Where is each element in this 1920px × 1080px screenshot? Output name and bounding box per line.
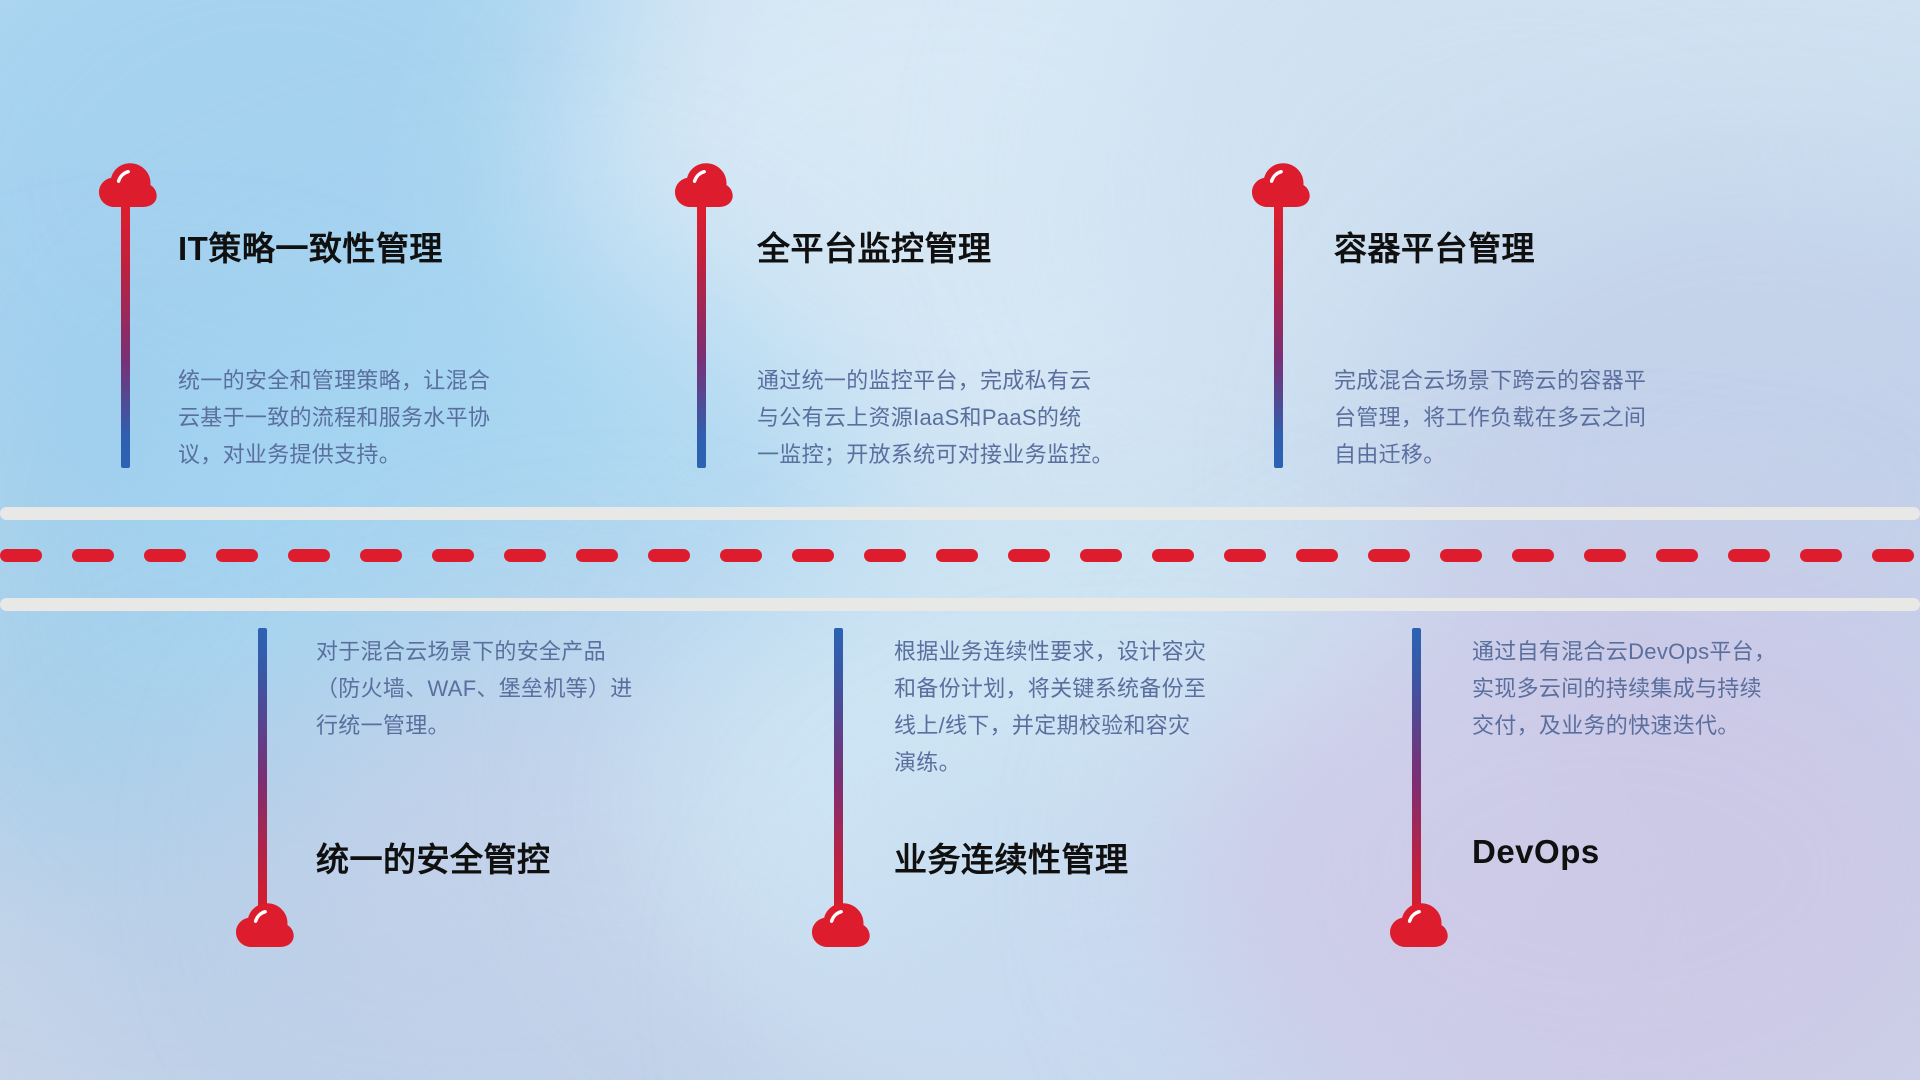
connector-stem — [834, 628, 843, 918]
road-dash — [144, 549, 186, 562]
card-heading: IT策略一致性管理 — [178, 222, 443, 270]
card-body: 通过统一的监控平台，完成私有云 与公有云上资源IaaS和PaaS的统 一监控；开… — [757, 362, 1197, 473]
road-dash — [288, 549, 330, 562]
road-dash — [720, 549, 762, 562]
connector-stem — [121, 203, 130, 468]
cloud-icon — [1385, 900, 1449, 948]
body-line: 议，对业务提供支持。 — [178, 436, 608, 473]
cloud-icon — [670, 160, 734, 208]
body-line: 对于混合云场景下的安全产品 — [316, 633, 746, 670]
road-dash — [576, 549, 618, 562]
road-dash — [1584, 549, 1626, 562]
road-dash — [1512, 549, 1554, 562]
body-line: 线上/线下，并定期校验和容灾 — [894, 707, 1324, 744]
road-dash — [0, 549, 42, 562]
body-line: 通过自有混合云DevOps平台， — [1472, 633, 1892, 670]
cloud-icon — [1247, 160, 1311, 208]
road-edge-top — [0, 507, 1920, 520]
road-dash — [360, 549, 402, 562]
road-dash-row — [0, 549, 1920, 562]
road-dash — [504, 549, 546, 562]
body-line: 实现多云间的持续集成与持续 — [1472, 670, 1892, 707]
cloud-icon — [94, 160, 158, 208]
body-line: 通过统一的监控平台，完成私有云 — [757, 362, 1197, 399]
card-body: 根据业务连续性要求，设计容灾 和备份计划，将关键系统备份至 线上/线下，并定期校… — [894, 633, 1324, 781]
road-dash — [1008, 549, 1050, 562]
body-line: 行统一管理。 — [316, 707, 746, 744]
road-dash — [1440, 549, 1482, 562]
road-dash — [792, 549, 834, 562]
body-line: 云基于一致的流程和服务水平协 — [178, 399, 608, 436]
card-body: 统一的安全和管理策略，让混合 云基于一致的流程和服务水平协 议，对业务提供支持。 — [178, 362, 608, 473]
body-line: 交付，及业务的快速迭代。 — [1472, 707, 1892, 744]
card-body: 通过自有混合云DevOps平台， 实现多云间的持续集成与持续 交付，及业务的快速… — [1472, 633, 1892, 744]
road-dash — [1296, 549, 1338, 562]
road-dash — [648, 549, 690, 562]
body-line: 根据业务连续性要求，设计容灾 — [894, 633, 1324, 670]
card-heading: 统一的安全管控 — [316, 833, 551, 881]
body-line: 统一的安全和管理策略，让混合 — [178, 362, 608, 399]
road-dash — [1152, 549, 1194, 562]
body-line: （防火墙、WAF、堡垒机等）进 — [316, 670, 746, 707]
card-body: 完成混合云场景下跨云的容器平 台管理，将工作负载在多云之间 自由迁移。 — [1334, 362, 1764, 473]
card-body: 对于混合云场景下的安全产品 （防火墙、WAF、堡垒机等）进 行统一管理。 — [316, 633, 746, 744]
card-heading: DevOps — [1472, 833, 1600, 871]
road-dash — [1656, 549, 1698, 562]
connector-stem — [1412, 628, 1421, 918]
cloud-icon — [807, 900, 871, 948]
body-line: 一监控；开放系统可对接业务监控。 — [757, 436, 1197, 473]
road-dash — [936, 549, 978, 562]
card-heading: 业务连续性管理 — [894, 833, 1129, 881]
road-dash — [864, 549, 906, 562]
road-dash — [216, 549, 258, 562]
card-heading: 全平台监控管理 — [757, 222, 992, 270]
connector-stem — [258, 628, 267, 918]
cloud-icon — [231, 900, 295, 948]
road-dash — [1800, 549, 1842, 562]
road-dash — [1728, 549, 1770, 562]
road-dash — [1224, 549, 1266, 562]
body-line: 和备份计划，将关键系统备份至 — [894, 670, 1324, 707]
connector-stem — [1274, 203, 1283, 468]
road-dash — [432, 549, 474, 562]
card-heading: 容器平台管理 — [1334, 222, 1535, 270]
body-line: 与公有云上资源IaaS和PaaS的统 — [757, 399, 1197, 436]
road-dash — [1368, 549, 1410, 562]
road-dash — [1872, 549, 1914, 562]
body-line: 演练。 — [894, 744, 1324, 781]
road-dash — [72, 549, 114, 562]
infographic-canvas: IT策略一致性管理 统一的安全和管理策略，让混合 云基于一致的流程和服务水平协 … — [0, 0, 1920, 1080]
road-edge-bottom — [0, 598, 1920, 611]
body-line: 自由迁移。 — [1334, 436, 1764, 473]
road-dash — [1080, 549, 1122, 562]
body-line: 台管理，将工作负载在多云之间 — [1334, 399, 1764, 436]
body-line: 完成混合云场景下跨云的容器平 — [1334, 362, 1764, 399]
connector-stem — [697, 203, 706, 468]
